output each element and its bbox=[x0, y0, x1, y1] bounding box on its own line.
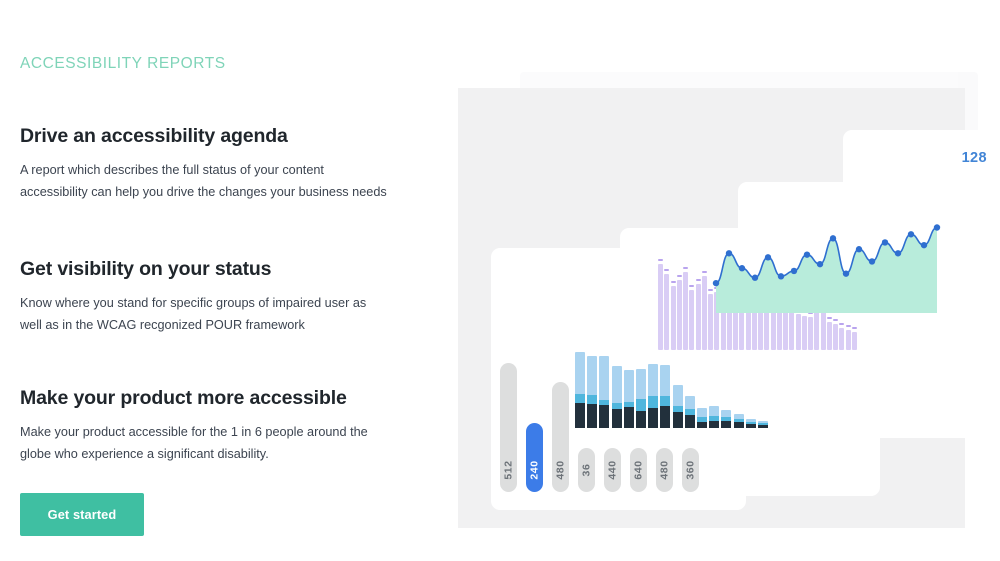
data-point bbox=[791, 268, 797, 274]
stacked-bar bbox=[685, 396, 695, 428]
section-kicker: ACCESSIBILITY REPORTS bbox=[20, 55, 226, 73]
stacked-bar bbox=[697, 408, 707, 428]
get-started-button[interactable]: Get started bbox=[20, 493, 144, 536]
data-point bbox=[869, 258, 875, 264]
stacked-bar-segment bbox=[660, 365, 670, 396]
data-point bbox=[921, 242, 927, 248]
data-point bbox=[817, 261, 823, 267]
feature-block-3: Make your product more accessible Make y… bbox=[20, 387, 390, 465]
stacked-bar-segment bbox=[660, 406, 670, 428]
stacked-bar-segment bbox=[636, 411, 646, 428]
stacked-bar-segment bbox=[612, 409, 622, 429]
pill-label-440[interactable]: 440 bbox=[604, 448, 621, 492]
stacked-bar-segment bbox=[599, 356, 609, 400]
feature-block-2: Get visibility on your status Know where… bbox=[20, 258, 390, 336]
stacked-bar-segment bbox=[697, 422, 707, 428]
data-point bbox=[778, 273, 784, 279]
data-point bbox=[804, 251, 810, 257]
stacked-bar-segment bbox=[697, 408, 707, 418]
data-point bbox=[726, 250, 732, 256]
stacked-bar-segment bbox=[685, 415, 695, 428]
stacked-bar bbox=[709, 406, 719, 428]
stacked-bar bbox=[624, 370, 634, 428]
page-root: ACCESSIBILITY REPORTS Drive an accessibi… bbox=[0, 0, 1000, 561]
stacked-bar-segment bbox=[599, 405, 609, 428]
stacked-bar-segment bbox=[648, 364, 658, 396]
stacked-bar-segment bbox=[624, 370, 634, 402]
pill-label-text: 360 bbox=[685, 460, 697, 479]
stacked-bar bbox=[758, 421, 768, 428]
stacked-bar-segment bbox=[587, 395, 597, 404]
pill-label-text: 480 bbox=[659, 460, 671, 479]
stacked-bar-segment bbox=[685, 396, 695, 410]
feature-heading-3: Make your product more accessible bbox=[20, 387, 390, 410]
pill-label-text: 640 bbox=[633, 460, 645, 479]
reports-illustration: 128 51224048036440640480360 bbox=[450, 60, 1000, 540]
area-fill bbox=[716, 228, 937, 314]
stacked-bar-chart bbox=[575, 350, 775, 428]
stacked-bar bbox=[721, 410, 731, 428]
data-point bbox=[830, 235, 836, 241]
stacked-bar-segment bbox=[734, 422, 744, 428]
feature-body-2: Know where you stand for specific groups… bbox=[20, 293, 390, 336]
pill-label-text: 240 bbox=[529, 460, 541, 479]
feature-block-1: Drive an accessibility agenda A report w… bbox=[20, 125, 390, 203]
stacked-bar-segment bbox=[648, 408, 658, 428]
stacked-bar bbox=[599, 356, 609, 428]
stacked-bar-segment bbox=[575, 403, 585, 428]
stacked-bar-segment bbox=[673, 406, 683, 413]
stacked-bar bbox=[587, 356, 597, 428]
data-point bbox=[765, 254, 771, 260]
data-point bbox=[856, 246, 862, 252]
stacked-bar bbox=[660, 365, 670, 428]
stacked-bar-segment bbox=[673, 412, 683, 428]
stacked-bar-segment bbox=[709, 406, 719, 417]
stacked-bar-segment bbox=[575, 394, 585, 403]
stacked-bar-segment bbox=[673, 385, 683, 405]
data-point bbox=[713, 280, 719, 286]
content-column: ACCESSIBILITY REPORTS Drive an accessibi… bbox=[20, 0, 420, 561]
stacked-bar-segment bbox=[648, 396, 658, 408]
stacked-bar-segment bbox=[587, 356, 597, 395]
stacked-bar-segment bbox=[660, 396, 670, 406]
stacked-bar-segment bbox=[758, 425, 768, 428]
stacked-bar-segment bbox=[624, 407, 634, 428]
pill-label-text: 36 bbox=[580, 464, 592, 477]
stacked-bar-segment bbox=[636, 399, 646, 412]
pill-label-480[interactable]: 480 bbox=[552, 448, 569, 492]
stacked-bar bbox=[648, 364, 658, 428]
stacked-bar bbox=[575, 352, 585, 428]
stacked-bar bbox=[746, 419, 756, 428]
stacked-bar bbox=[673, 385, 683, 428]
stacked-bar bbox=[612, 366, 622, 428]
feature-heading-1: Drive an accessibility agenda bbox=[20, 125, 390, 148]
pill-label-512[interactable]: 512 bbox=[500, 448, 517, 492]
feature-body-3: Make your product accessible for the 1 i… bbox=[20, 422, 390, 465]
pill-label-36[interactable]: 36 bbox=[578, 448, 595, 492]
data-point bbox=[934, 224, 940, 230]
stacked-bar bbox=[636, 369, 646, 428]
data-point bbox=[739, 265, 745, 271]
data-point bbox=[908, 231, 914, 237]
data-point bbox=[882, 239, 888, 245]
stacked-bar-segment bbox=[636, 369, 646, 399]
feature-heading-2: Get visibility on your status bbox=[20, 258, 390, 281]
pill-label-text: 480 bbox=[555, 460, 567, 479]
pill-label-360[interactable]: 360 bbox=[682, 448, 699, 492]
data-point bbox=[752, 275, 758, 281]
data-point bbox=[843, 270, 849, 276]
pill-label-text: 512 bbox=[503, 460, 515, 479]
feature-body-1: A report which describes the full status… bbox=[20, 160, 390, 203]
data-point bbox=[895, 250, 901, 256]
pill-label-240[interactable]: 240 bbox=[526, 448, 543, 492]
stacked-bar bbox=[734, 414, 744, 428]
stacked-bar-segment bbox=[721, 421, 731, 428]
stacked-bar-segment bbox=[575, 352, 585, 394]
stacked-bar-segment bbox=[721, 410, 731, 417]
stacked-bar-segment bbox=[612, 366, 622, 403]
stacked-bar-segment bbox=[709, 421, 719, 428]
pill-label-text: 440 bbox=[607, 460, 619, 479]
stacked-bar-segment bbox=[587, 404, 597, 428]
stacked-bar-segment bbox=[746, 424, 756, 428]
pill-label-640[interactable]: 640 bbox=[630, 448, 647, 492]
pill-label-480[interactable]: 480 bbox=[656, 448, 673, 492]
